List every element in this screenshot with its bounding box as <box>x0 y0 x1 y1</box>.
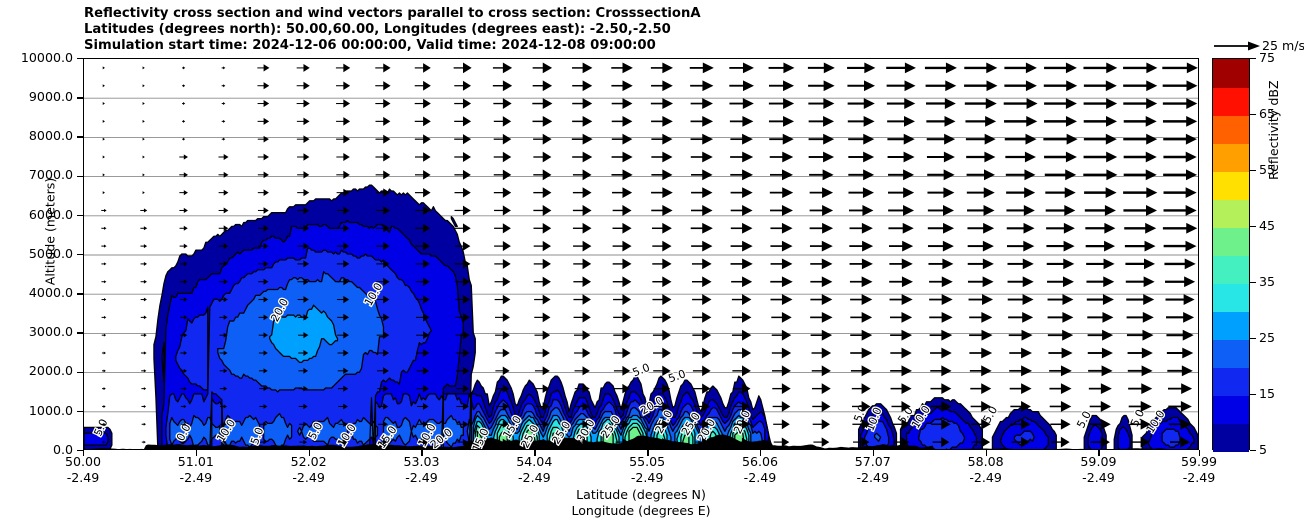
wind-arrow-icon <box>573 169 592 180</box>
x-axis-longitude-label: -2.49 <box>376 470 466 486</box>
y-axis-label: Altitude (meters) <box>43 142 58 322</box>
wind-arrow-icon <box>1048 312 1074 323</box>
colorbar-tick-label: 15 <box>1259 388 1275 401</box>
wind-arrow-icon <box>613 276 632 287</box>
wind-arrow-icon <box>1124 152 1157 163</box>
wind-arrow-icon <box>968 276 994 287</box>
x-axis-tick-group: 59.09-2.49 <box>1053 454 1143 485</box>
wind-arrow-icon <box>101 280 106 283</box>
wind-arrow-icon <box>850 259 873 270</box>
wind-arrow-icon <box>852 383 871 394</box>
wind-arrow-icon <box>1123 98 1157 109</box>
wind-arrow-icon <box>810 223 833 234</box>
colorbar-tick-mark <box>1250 394 1256 395</box>
wind-arrow-icon <box>534 312 550 322</box>
wind-arrow-icon <box>415 152 431 161</box>
plot-area: 20.010.05.00.010.05.05.010.015.010.020.0… <box>83 58 1199 450</box>
wind-arrow-icon <box>102 298 107 301</box>
x-axis: Latitude (degrees N) Longitude (degrees … <box>83 450 1199 526</box>
wind-arrow-icon <box>1084 98 1118 109</box>
wind-arrow-icon <box>813 437 829 447</box>
wind-arrow-icon <box>812 365 831 376</box>
wind-arrow-icon <box>533 80 552 91</box>
wind-arrow-icon <box>1008 312 1033 323</box>
wind-arrow-icon <box>1085 205 1116 216</box>
wind-arrow-icon <box>651 187 673 198</box>
wind-arrow-icon <box>613 259 632 270</box>
wind-arrow-icon <box>927 152 955 163</box>
wind-arrow-icon <box>454 170 470 180</box>
wind-arrow-icon <box>375 153 390 162</box>
wind-arrow-icon <box>297 171 309 178</box>
wind-arrow-icon <box>964 80 997 91</box>
wind-arrow-icon <box>612 116 633 127</box>
wind-arrow-icon <box>773 401 791 412</box>
wind-arrow-icon <box>848 169 874 180</box>
title-line-2: Latitudes (degrees north): 50.00,60.00, … <box>84 22 1084 38</box>
wind-arrow-icon <box>612 152 633 163</box>
wind-arrow-icon <box>653 330 671 341</box>
wind-arrow-icon <box>140 244 147 248</box>
wind-arrow-icon <box>1044 80 1077 91</box>
wind-arrow-icon <box>653 312 672 323</box>
wind-arrow-icon <box>1163 152 1196 163</box>
wind-arrow-icon <box>532 98 552 109</box>
wind-arrow-icon <box>613 294 631 305</box>
wind-arrow-icon <box>1163 223 1197 234</box>
x-axis-latitude-label: 51.01 <box>151 454 241 470</box>
wind-arrow-icon <box>1167 348 1193 359</box>
wind-arrow-icon <box>926 98 956 109</box>
wind-arrow-icon <box>729 63 754 74</box>
y-axis-tick-mark <box>77 372 83 373</box>
wind-arrow-icon <box>691 152 713 163</box>
wind-arrow-icon <box>925 63 957 74</box>
wind-arrow-icon <box>141 316 147 320</box>
wind-arrow-icon <box>926 80 957 91</box>
wind-arrow-icon <box>810 187 833 198</box>
wind-arrow-icon <box>182 138 185 141</box>
wind-arrow-icon <box>573 187 592 198</box>
colorbar-band <box>1213 227 1249 256</box>
wind-arrow-icon <box>813 419 830 429</box>
wind-arrow-icon <box>1005 152 1036 163</box>
wind-arrow-icon <box>890 312 912 323</box>
wind-arrow-icon <box>730 152 753 163</box>
wind-arrow-icon <box>1047 276 1074 287</box>
colorbar-tick-label: 35 <box>1259 276 1275 289</box>
wind-arrow-icon <box>810 241 833 252</box>
x-axis-longitude-label: -2.49 <box>715 470 805 486</box>
wind-arrow-icon <box>1163 169 1197 180</box>
wind-arrow-icon <box>692 330 711 341</box>
wind-arrow-icon <box>965 116 996 127</box>
wind-arrow-icon <box>850 294 872 305</box>
wind-arrow-icon <box>572 80 592 91</box>
wind-arrow-icon <box>847 80 875 91</box>
wind-arrow-icon <box>888 205 914 216</box>
wind-arrow-icon <box>968 259 994 270</box>
wind-arrow-icon <box>731 259 753 270</box>
colorbar-band <box>1213 143 1249 172</box>
wind-arrow-icon <box>651 205 672 216</box>
wind-arrow-icon <box>102 316 107 319</box>
wind-arrow-icon <box>769 80 794 91</box>
wind-arrow-icon <box>967 205 994 216</box>
wind-arrow-icon <box>651 116 673 127</box>
wind-arrow-icon <box>297 118 310 126</box>
wind-arrow-icon <box>1044 98 1077 109</box>
wind-arrow-icon <box>652 241 671 252</box>
wind-arrow-icon <box>534 295 550 305</box>
wind-arrow-icon <box>731 241 753 252</box>
wind-arrow-icon <box>889 241 913 252</box>
wind-arrow-icon <box>770 205 793 216</box>
wind-arrow-icon <box>970 383 991 394</box>
wind-arrow-icon <box>731 276 752 287</box>
wind-arrow-icon <box>1047 259 1075 270</box>
wind-arrow-icon <box>651 98 673 109</box>
wind-arrow-icon <box>101 245 106 248</box>
wind-arrow-icon <box>1084 187 1117 198</box>
wind-arrow-icon <box>222 138 226 141</box>
colorbar-band <box>1213 423 1249 452</box>
y-axis-tick-mark <box>77 176 83 177</box>
wind-arrow-icon <box>770 187 793 198</box>
x-axis-latitude-label: 56.06 <box>715 454 805 470</box>
wind-arrow-icon <box>613 223 632 234</box>
wind-arrow-icon <box>770 241 792 252</box>
wind-arrow-icon <box>1045 187 1075 198</box>
wind-arrow-icon <box>692 294 711 305</box>
wind-arrow-icon <box>1123 187 1157 198</box>
wind-arrow-icon <box>774 437 789 446</box>
wind-arrow-icon <box>1163 116 1197 127</box>
wind-arrow-icon <box>770 276 792 287</box>
wind-arrow-icon <box>848 152 874 163</box>
wind-arrow-icon <box>1005 134 1037 145</box>
wind-arrow-icon <box>691 116 714 127</box>
wind-arrow-icon <box>1088 365 1112 376</box>
y-axis-tick-mark <box>77 136 83 137</box>
wind-arrow-icon <box>1006 205 1034 216</box>
colorbar-title: Reflectivity dBZ <box>1266 20 1281 180</box>
wind-arrow-icon <box>929 276 953 287</box>
wind-arrow-icon <box>179 208 188 213</box>
wind-arrow-icon <box>1046 223 1075 234</box>
wind-arrow-icon <box>219 190 229 196</box>
x-axis-label-longitude: Longitude (degrees E) <box>83 503 1199 518</box>
wind-arrow-icon <box>258 118 270 125</box>
wind-arrow-icon <box>1086 241 1115 252</box>
wind-arrow-icon <box>1168 383 1192 394</box>
wind-arrow-icon <box>848 98 875 109</box>
wind-arrow-icon <box>1166 312 1194 323</box>
wind-arrow-icon <box>888 187 914 198</box>
wind-arrow-icon <box>1008 294 1034 305</box>
wind-arrow-icon <box>770 152 794 163</box>
wind-arrow-icon <box>182 102 185 105</box>
wind-arrow-icon <box>690 63 714 74</box>
wind-arrow-icon <box>611 63 633 74</box>
wind-arrow-icon <box>258 207 269 213</box>
wind-arrow-icon <box>141 369 146 372</box>
wind-arrow-icon <box>102 387 106 390</box>
wind-arrow-icon <box>1049 383 1071 394</box>
wind-arrow-icon <box>1009 348 1032 359</box>
wind-arrow-icon <box>103 120 105 123</box>
x-axis-latitude-label: 55.05 <box>602 454 692 470</box>
wind-arrow-icon <box>572 134 593 145</box>
x-axis-tick-group: 57.07-2.49 <box>828 454 918 485</box>
wind-arrow-icon <box>969 294 994 305</box>
wind-arrow-icon <box>847 63 875 74</box>
wind-arrow-icon <box>692 259 712 270</box>
wind-arrow-icon <box>929 294 953 305</box>
wind-arrow-icon <box>1007 241 1034 252</box>
x-axis-longitude-label: -2.49 <box>489 470 579 486</box>
wind-arrow-icon <box>103 84 105 87</box>
wind-arrow-icon <box>297 82 310 90</box>
colorbar-tick-mark <box>1250 170 1256 171</box>
wind-arrow-icon <box>1086 259 1114 270</box>
reference-wind-vector: 25 m/s <box>1212 36 1304 56</box>
wind-arrow-icon <box>258 154 269 161</box>
wind-arrow-icon <box>1084 116 1117 127</box>
wind-arrow-icon <box>651 152 672 163</box>
wind-arrow-icon <box>415 117 431 127</box>
x-axis-tick-group: 53.03-2.49 <box>376 454 466 485</box>
wind-arrow-icon <box>143 102 145 105</box>
wind-arrow-icon <box>810 312 832 323</box>
wind-arrow-icon <box>454 116 471 126</box>
wind-arrow-icon <box>535 348 550 357</box>
wind-arrow-icon <box>929 312 952 323</box>
wind-arrow-icon <box>101 209 106 212</box>
y-axis-tick-mark <box>77 215 83 216</box>
wind-arrow-icon <box>809 152 834 163</box>
colorbar-tick-label: 5 <box>1259 444 1267 457</box>
wind-arrow-icon <box>1162 63 1198 74</box>
wind-arrow-icon <box>454 152 471 162</box>
wind-arrow-icon <box>102 334 106 337</box>
x-axis-tick-group: 59.99-2.49 <box>1154 454 1244 485</box>
y-axis-tick-mark <box>77 97 83 98</box>
wind-arrow-icon <box>143 173 145 176</box>
wind-arrow-icon <box>850 223 873 234</box>
wind-arrow-icon <box>771 259 793 270</box>
wind-arrow-icon <box>888 152 915 163</box>
wind-arrow-icon <box>652 259 671 270</box>
wind-arrow-icon <box>494 205 511 215</box>
wind-arrow-icon <box>887 116 915 127</box>
wind-arrow-icon <box>180 244 188 249</box>
wind-arrow-icon <box>812 348 832 359</box>
x-axis-longitude-label: -2.49 <box>264 470 354 486</box>
colorbar-tick-mark <box>1250 226 1256 227</box>
wind-arrow-icon <box>1004 116 1037 127</box>
wind-arrow-icon <box>493 63 512 74</box>
wind-arrow-icon <box>182 66 185 69</box>
y-axis-tick-mark <box>77 58 83 59</box>
wind-arrow-icon <box>1050 401 1072 412</box>
wind-arrow-icon <box>849 205 873 216</box>
wind-arrow-icon <box>1164 187 1197 198</box>
wind-arrow-icon <box>613 241 632 252</box>
wind-arrow-icon <box>103 156 105 159</box>
wind-arrow-icon <box>572 152 592 163</box>
wind-arrow-icon <box>1125 241 1156 252</box>
wind-arrow-icon <box>102 405 106 408</box>
wind-arrow-icon <box>808 98 834 109</box>
wind-arrow-icon <box>494 170 512 181</box>
wind-arrow-icon <box>731 205 753 216</box>
wind-arrow-icon <box>533 223 551 234</box>
title-line-3: Simulation start time: 2024-12-06 00:00:… <box>84 38 1084 54</box>
wind-arrow-icon <box>691 98 713 109</box>
wind-arrow-icon <box>257 64 269 71</box>
wind-arrow-icon <box>968 241 994 252</box>
wind-arrow-icon <box>651 169 672 180</box>
wind-arrow-icon <box>143 84 145 87</box>
wind-arrow-icon <box>141 262 147 266</box>
wind-arrow-icon <box>769 116 794 127</box>
x-axis-tick-group: 50.00-2.49 <box>38 454 128 485</box>
wind-arrow-icon <box>142 441 146 444</box>
wind-arrow-icon <box>1050 419 1070 430</box>
wind-arrow-icon <box>1048 330 1073 341</box>
wind-arrow-icon <box>773 419 790 429</box>
wind-arrow-icon <box>1010 383 1032 394</box>
wind-arrow-icon <box>179 154 188 159</box>
contour-label: 5.0 <box>631 361 652 380</box>
wind-arrow-icon <box>1044 116 1077 127</box>
wind-arrow-icon <box>258 171 269 178</box>
wind-arrow-icon <box>141 351 147 354</box>
wind-arrow-icon <box>180 226 188 231</box>
wind-arrow-icon <box>143 138 145 141</box>
wind-arrow-icon <box>297 135 310 143</box>
wind-arrow-icon <box>455 206 471 216</box>
wind-arrow-icon <box>1166 330 1193 341</box>
x-axis-tick-group: 56.06-2.49 <box>715 454 805 485</box>
wind-arrow-icon <box>930 330 953 341</box>
wind-arrow-icon <box>1128 365 1153 376</box>
wind-arrow-icon <box>222 102 226 105</box>
wind-arrow-icon <box>1167 365 1193 376</box>
wind-arrow-icon <box>652 276 671 287</box>
wind-arrow-icon <box>772 348 791 359</box>
wind-arrow-icon <box>691 187 712 198</box>
colorbar-band <box>1213 87 1249 116</box>
wind-arrow-icon <box>101 227 106 230</box>
wind-arrow-icon <box>534 241 551 251</box>
y-axis-tick-label: 1000.0 <box>29 405 73 418</box>
wind-arrow-icon <box>534 259 551 269</box>
wind-arrow-icon <box>693 365 711 376</box>
cross-section-canvas: 20.010.05.00.010.05.05.010.015.010.020.0… <box>84 59 1199 450</box>
wind-arrow-icon <box>140 226 147 230</box>
wind-arrow-icon <box>141 333 147 337</box>
wind-arrow-icon <box>1088 348 1113 359</box>
reflectivity-cross-section-figure: Reflectivity cross section and wind vect… <box>0 0 1304 526</box>
wind-arrow-icon <box>494 259 510 269</box>
wind-arrow-icon <box>1125 259 1155 270</box>
wind-arrow-icon <box>494 152 512 163</box>
wind-arrow-icon <box>927 134 955 145</box>
wind-arrow-icon <box>533 152 551 163</box>
wind-arrow-icon <box>336 81 350 89</box>
wind-arrow-icon <box>891 383 912 394</box>
wind-arrow-icon <box>890 330 912 341</box>
x-axis-latitude-label: 59.09 <box>1053 454 1143 470</box>
wind-arrow-icon <box>415 63 431 73</box>
wind-arrow-icon <box>494 241 511 251</box>
wind-arrow-icon <box>927 187 954 198</box>
wind-arrow-icon <box>613 205 632 216</box>
x-axis-latitude-label: 52.02 <box>264 454 354 470</box>
colorbar: 515253545556575 <box>1212 58 1250 450</box>
wind-arrow-icon <box>1124 169 1157 180</box>
wind-arrow-icon <box>928 223 954 234</box>
wind-arrow-icon <box>1009 365 1032 376</box>
x-axis-latitude-label: 54.04 <box>489 454 579 470</box>
wind-arrow-icon <box>691 205 713 216</box>
wind-arrow-icon <box>141 387 146 390</box>
wind-arrow-icon <box>1048 348 1072 359</box>
wind-arrow-icon <box>336 64 350 73</box>
wind-arrow-icon <box>886 63 916 74</box>
wind-arrow-icon <box>769 63 795 74</box>
wind-arrow-icon <box>574 330 590 340</box>
wind-arrow-icon <box>612 187 632 198</box>
x-axis-latitude-label: 59.99 <box>1154 454 1244 470</box>
wind-arrow-icon <box>964 63 997 74</box>
wind-arrow-icon <box>731 187 753 198</box>
wind-arrow-icon <box>494 187 511 197</box>
wind-arrow-icon <box>143 66 145 69</box>
wind-arrow-icon <box>573 223 592 234</box>
wind-arrow-icon <box>732 365 750 376</box>
wind-arrow-icon <box>848 116 875 127</box>
wind-arrow-icon <box>1166 294 1195 305</box>
wind-arrow-icon <box>1124 223 1156 234</box>
wind-arrow-icon <box>143 156 145 159</box>
wind-arrow-icon <box>966 134 996 145</box>
colorbar-tick-mark <box>1250 282 1256 283</box>
wind-arrow-icon <box>1123 134 1157 145</box>
wind-arrow-icon <box>1128 383 1152 394</box>
wind-arrow-icon <box>928 205 954 216</box>
wind-arrow-icon <box>1126 276 1155 287</box>
reference-arrow-icon <box>1212 36 1262 56</box>
colorbar-band <box>1213 199 1249 228</box>
wind-arrow-icon <box>336 135 350 143</box>
wind-arrow-icon <box>1123 63 1157 74</box>
wind-arrow-icon <box>574 312 591 322</box>
colorbar-gradient <box>1212 58 1250 450</box>
wind-arrow-icon <box>612 134 633 145</box>
wind-arrow-icon <box>102 369 106 372</box>
wind-arrow-icon <box>1123 80 1157 91</box>
wind-arrow-icon <box>375 99 390 108</box>
wind-arrow-icon <box>889 276 913 287</box>
wind-arrow-icon <box>1087 312 1113 323</box>
wind-arrow-icon <box>1126 294 1154 305</box>
wind-arrow-icon <box>809 169 834 180</box>
wind-arrow-icon <box>691 223 713 234</box>
wind-arrow-icon <box>375 135 390 144</box>
